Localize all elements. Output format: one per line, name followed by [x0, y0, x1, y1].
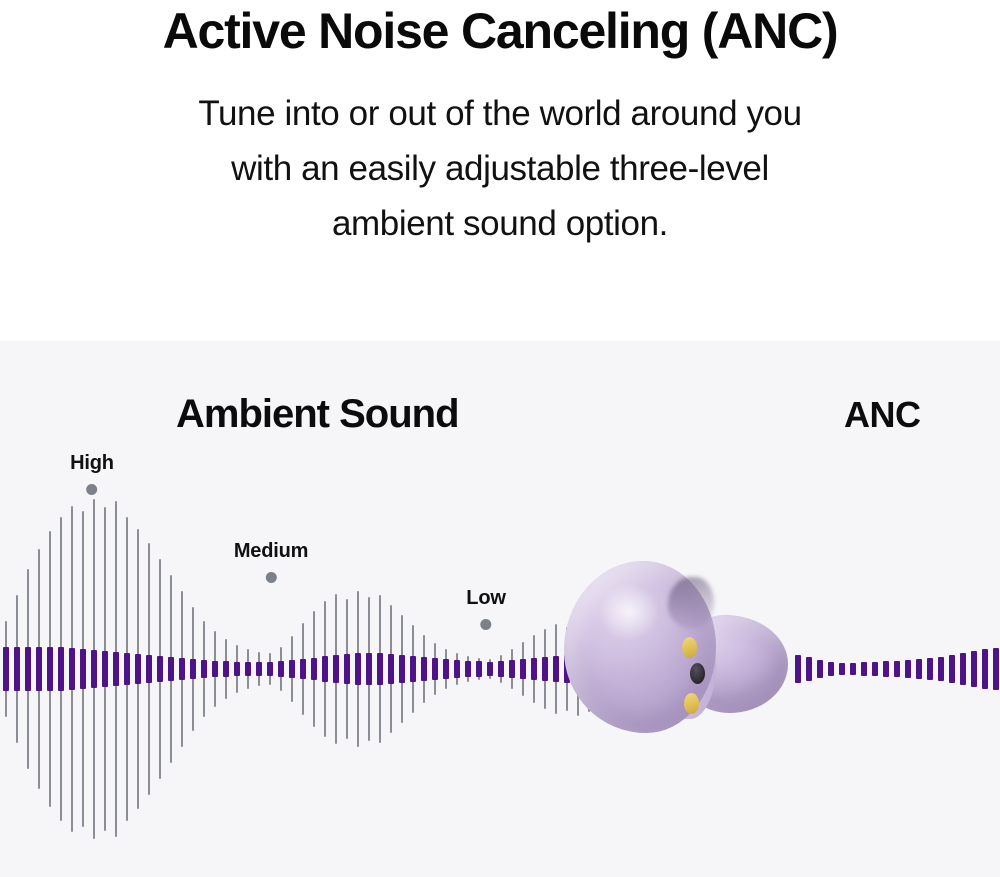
waveform-bar-anc — [256, 662, 262, 676]
waveform-bar-anc — [278, 661, 284, 677]
level-marker-dot-icon — [86, 484, 97, 495]
waveform-bar-anc — [410, 656, 416, 682]
waveform-bar-anc — [3, 647, 9, 691]
waveform-bar-anc — [212, 661, 218, 677]
waveform-bar-anc — [982, 649, 988, 689]
feature-panel: Ambient Sound ANC HighMediumLow — [0, 341, 1000, 877]
waveform-bar-anc — [938, 657, 944, 681]
waveform-bar-anc — [91, 650, 97, 688]
waveform-bar-anc — [289, 660, 295, 678]
waveform-bar-anc — [487, 662, 493, 676]
waveform-bar-anc — [443, 659, 449, 679]
waveform-bar-anc — [509, 660, 515, 678]
waveform-bar-anc — [960, 653, 966, 685]
waveform-bar-anc — [498, 661, 504, 677]
waveform-bar-anc — [839, 663, 845, 675]
waveform-bar-anc — [135, 654, 141, 684]
waveform-bar-anc — [421, 657, 427, 681]
waveform-bar-anc — [872, 662, 878, 676]
waveform-bar-anc — [102, 651, 108, 687]
waveform-bar-anc — [333, 655, 339, 683]
waveform-bar-anc — [223, 661, 229, 677]
waveform-bar-anc — [355, 653, 361, 685]
waveform-bar-anc — [971, 651, 977, 687]
waveform-bar-anc — [817, 660, 823, 678]
waveform-bar-anc — [949, 655, 955, 683]
waveform-bar-anc — [36, 647, 42, 691]
earbud-highlight — [598, 583, 660, 641]
waveform-bar-anc — [993, 648, 999, 690]
waveform-bar-anc — [916, 659, 922, 679]
waveform-bar-anc — [454, 660, 460, 678]
galaxy-buds-earbud-image — [556, 553, 796, 763]
waveform-bar-anc — [25, 647, 31, 691]
waveform-bar-anc — [146, 655, 152, 683]
waveform-bar-anc — [300, 659, 306, 679]
waveform-bar-anc — [476, 661, 482, 677]
waveform-bar-anc — [531, 658, 537, 680]
waveform-bar-anc — [377, 653, 383, 685]
waveform-bar-anc — [157, 656, 163, 682]
waveform-bar-anc — [850, 663, 856, 675]
level-marker-label: High — [70, 451, 114, 475]
level-marker-label: Medium — [234, 539, 308, 563]
waveform-bar-anc — [234, 662, 240, 676]
ambient-sound-heading: Ambient Sound — [176, 391, 459, 437]
page-subtitle: Tune into or out of the world around you… — [90, 60, 910, 251]
earbud-top-shadow — [668, 577, 714, 629]
level-marker-dot-icon — [265, 572, 276, 583]
waveform-bar-anc — [465, 661, 471, 677]
waveform-bar-anc — [432, 658, 438, 680]
waveform-bar-anc — [58, 647, 64, 691]
waveform-bar-anc — [80, 649, 86, 689]
waveform-bar-anc — [311, 658, 317, 680]
waveform-bar-anc — [806, 657, 812, 681]
subtitle-line-3: ambient sound option. — [90, 196, 910, 251]
waveform-bar-anc — [344, 654, 350, 684]
charging-contact-upper-icon — [682, 637, 697, 658]
page-title: Active Noise Canceling (ANC) — [0, 0, 1000, 60]
level-marker-medium: Medium — [234, 539, 308, 583]
waveform-bar-anc — [245, 662, 251, 676]
waveform-bar-anc — [267, 662, 273, 676]
waveform-bar-anc — [14, 647, 20, 691]
waveform-bar-anc — [388, 654, 394, 684]
waveform-bar-anc — [190, 659, 196, 679]
waveform-bar-anc — [322, 656, 328, 682]
waveform-bar-anc — [894, 661, 900, 677]
level-marker-low: Low — [466, 586, 505, 630]
level-marker-label: Low — [466, 586, 505, 610]
subtitle-line-1: Tune into or out of the world around you — [90, 86, 910, 141]
waveform-bar-anc — [168, 657, 174, 681]
waveform-bar-anc — [179, 658, 185, 680]
waveform-bar-anc — [905, 660, 911, 678]
waveform-bar-anc — [861, 662, 867, 676]
subtitle-line-2: with an easily adjustable three-level — [90, 141, 910, 196]
waveform-bar-anc — [124, 653, 130, 685]
header-section: Active Noise Canceling (ANC) Tune into o… — [0, 0, 1000, 341]
anc-heading: ANC — [844, 393, 921, 437]
microphone-port-icon — [690, 663, 705, 684]
waveform-bar-anc — [366, 653, 372, 685]
waveform-bar-anc — [828, 662, 834, 676]
waveform-bar-anc — [520, 659, 526, 679]
waveform-bar-anc — [883, 661, 889, 677]
charging-contact-lower-icon — [684, 693, 699, 714]
level-marker-high: High — [70, 451, 114, 495]
waveform-bar-anc — [201, 660, 207, 678]
waveform-bar-anc — [927, 658, 933, 680]
level-marker-dot-icon — [480, 619, 491, 630]
waveform-bar-anc — [113, 652, 119, 686]
waveform-bar-anc — [542, 657, 548, 681]
waveform-bar-anc — [47, 647, 53, 691]
waveform-bar-anc — [69, 648, 75, 690]
waveform-bar-anc — [399, 655, 405, 683]
